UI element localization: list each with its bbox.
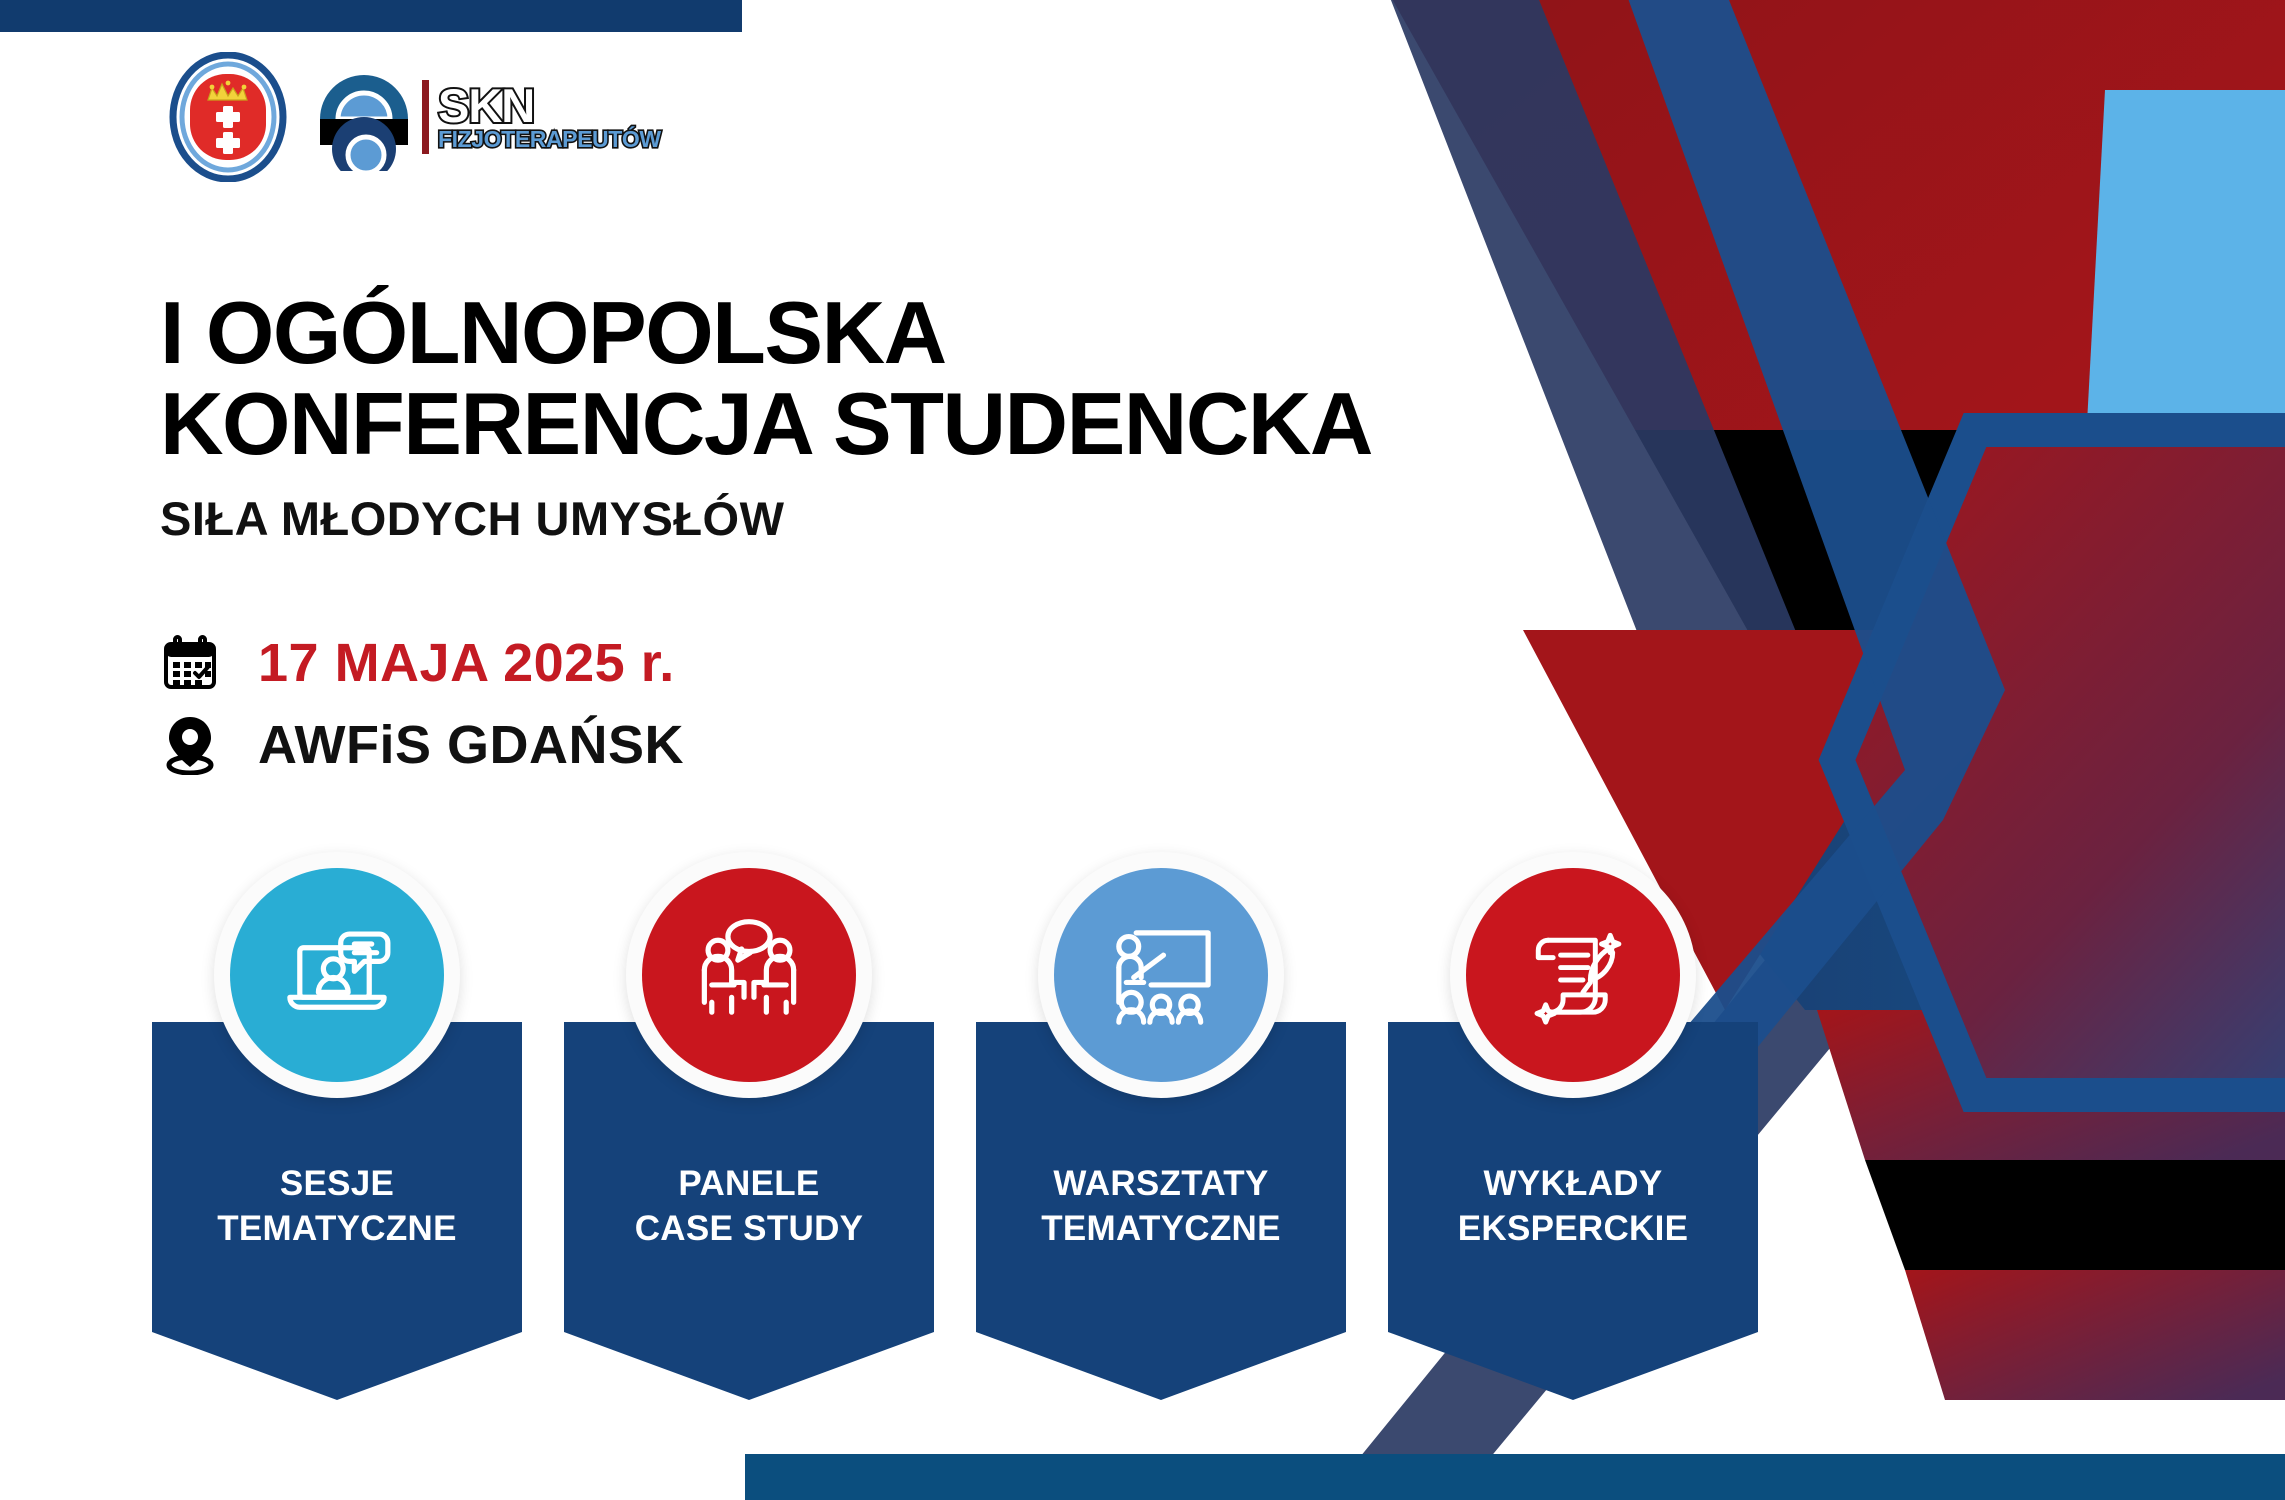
card-sesje-tematyczne[interactable]: SESJE TEMATYCZNE: [152, 852, 522, 1400]
skn-subwordmark: FIZJOTERAPEUTÓW: [438, 129, 661, 150]
card-disc: [230, 868, 444, 1082]
conference-poster: SKN FIZJOTERAPEUTÓW I OGÓLNOPOLSKA KONFE…: [0, 0, 2285, 1500]
card-disc: [1054, 868, 1268, 1082]
map-pin-icon: [160, 715, 220, 775]
card-label-line-1: WARSZTATY: [976, 1162, 1346, 1207]
event-location: AWFiS GDAŃSK: [258, 714, 684, 776]
card-label: WARSZTATY TEMATYCZNE: [976, 1162, 1346, 1252]
subtitle: SIŁA MŁODYCH UMYSŁÓW: [160, 491, 1372, 546]
skn-emblem-icon: [310, 63, 418, 171]
event-date: 17 MAJA 2025 r.: [258, 632, 675, 694]
card-label-line-1: PANELE: [564, 1162, 934, 1207]
card-disc-wrap: [1038, 852, 1284, 1098]
skn-fizjoterapeutow-logo: SKN FIZJOTERAPEUTÓW: [310, 62, 661, 172]
card-label-line-2: EKSPERCKIE: [1388, 1207, 1758, 1252]
scroll-quill-icon: [1511, 913, 1635, 1037]
card-disc: [642, 868, 856, 1082]
teacher-whiteboard-audience-icon: [1099, 913, 1223, 1037]
card-label: PANELE CASE STUDY: [564, 1162, 934, 1252]
event-meta: 17 MAJA 2025 r. AWFiS GDAŃSK: [160, 622, 684, 786]
title-line-2: KONFERENCJA STUDENCKA: [160, 379, 1372, 470]
card-label-line-1: SESJE: [152, 1162, 522, 1207]
bottom-accent-bar: [745, 1454, 2285, 1500]
awfis-gdansk-logo: [168, 52, 288, 182]
card-disc-wrap: [626, 852, 872, 1098]
card-warsztaty-tematyczne[interactable]: WARSZTATY TEMATYCZNE: [976, 852, 1346, 1400]
headline-block: I OGÓLNOPOLSKA KONFERENCJA STUDENCKA SIŁ…: [160, 288, 1372, 546]
skn-divider: [422, 80, 429, 154]
date-row: 17 MAJA 2025 r.: [160, 622, 684, 704]
top-accent-bar: [0, 0, 742, 32]
card-label-line-1: WYKŁADY: [1388, 1162, 1758, 1207]
two-seated-people-speech-bubble-icon: [687, 913, 811, 1037]
card-panele-case-study[interactable]: PANELE CASE STUDY: [564, 852, 934, 1400]
card-wyklady-eksperckie[interactable]: WYKŁADY EKSPERCKIE: [1388, 852, 1758, 1400]
card-disc-wrap: [1450, 852, 1696, 1098]
card-disc: [1466, 868, 1680, 1082]
logo-row: SKN FIZJOTERAPEUTÓW: [168, 52, 661, 182]
card-label-line-2: CASE STUDY: [564, 1207, 934, 1252]
skn-wordmark: SKN: [438, 84, 661, 127]
laptop-person-speech-bubble-icon: [275, 913, 399, 1037]
card-label-line-2: TEMATYCZNE: [976, 1207, 1346, 1252]
title-line-1: I OGÓLNOPOLSKA: [160, 288, 1372, 379]
card-label: WYKŁADY EKSPERCKIE: [1388, 1162, 1758, 1252]
card-disc-wrap: [214, 852, 460, 1098]
program-cards: SESJE TEMATYCZNE: [152, 852, 1758, 1400]
location-row: AWFiS GDAŃSK: [160, 704, 684, 786]
card-label-line-2: TEMATYCZNE: [152, 1207, 522, 1252]
card-label: SESJE TEMATYCZNE: [152, 1162, 522, 1252]
calendar-icon: [160, 635, 220, 691]
